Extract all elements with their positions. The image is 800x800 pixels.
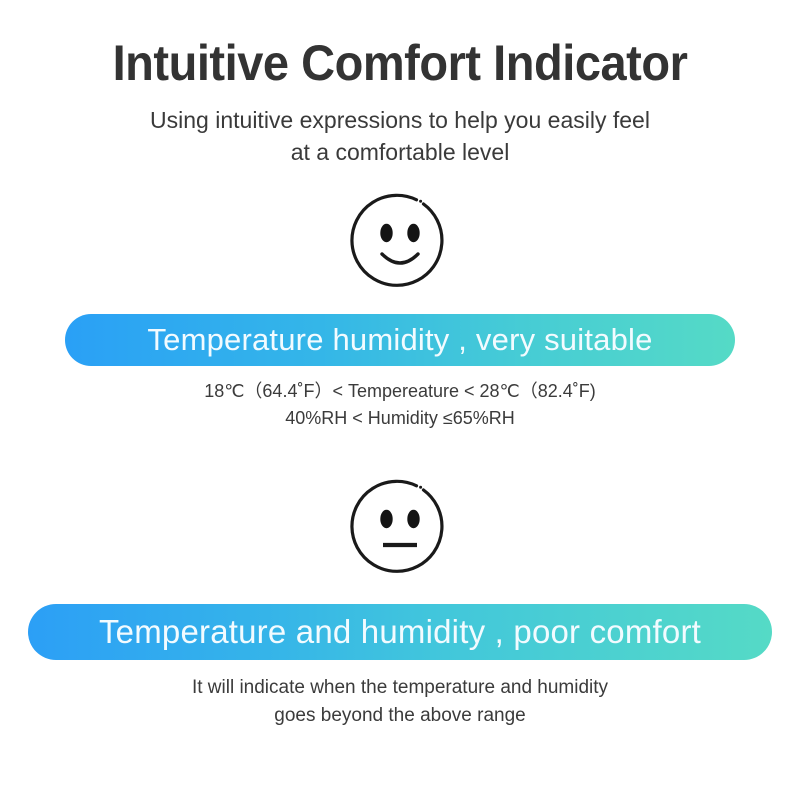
- discomfort-note-caption: It will indicate when the temperature an…: [0, 674, 800, 729]
- discomfort-note-line-2: goes beyond the above range: [0, 702, 800, 730]
- comfort-status-banner-label: Temperature humidity , very suitable: [147, 322, 652, 358]
- discomfort-status-banner: Temperature and humidity , poor comfort: [28, 604, 772, 660]
- neutral-face-icon: [350, 478, 450, 578]
- discomfort-note-line-1: It will indicate when the temperature an…: [0, 674, 800, 702]
- comfort-indicator-page: Intuitive Comfort Indicator Using intuit…: [0, 0, 800, 800]
- smiley-face-icon: [350, 192, 450, 292]
- comfort-range-caption: 18℃（64.4˚F）< Tempereature < 28℃（82.4˚F) …: [0, 378, 800, 432]
- discomfort-status-banner-label: Temperature and humidity , poor comfort: [99, 613, 701, 651]
- page-subtitle-line-1: Using intuitive expressions to help you …: [80, 105, 720, 137]
- page-header: Intuitive Comfort Indicator Using intuit…: [0, 0, 800, 168]
- comfort-status-banner: Temperature humidity , very suitable: [65, 314, 735, 366]
- discomfort-face-container: [0, 478, 800, 578]
- page-title: Intuitive Comfort Indicator: [24, 36, 776, 91]
- comfort-temperature-range: 18℃（64.4˚F）< Tempereature < 28℃（82.4˚F): [0, 378, 800, 405]
- comfort-humidity-range: 40%RH < Humidity ≤65%RH: [0, 405, 800, 432]
- page-subtitle-line-2: at a comfortable level: [80, 137, 720, 169]
- page-subtitle: Using intuitive expressions to help you …: [80, 105, 720, 168]
- comfort-face-container: [0, 192, 800, 292]
